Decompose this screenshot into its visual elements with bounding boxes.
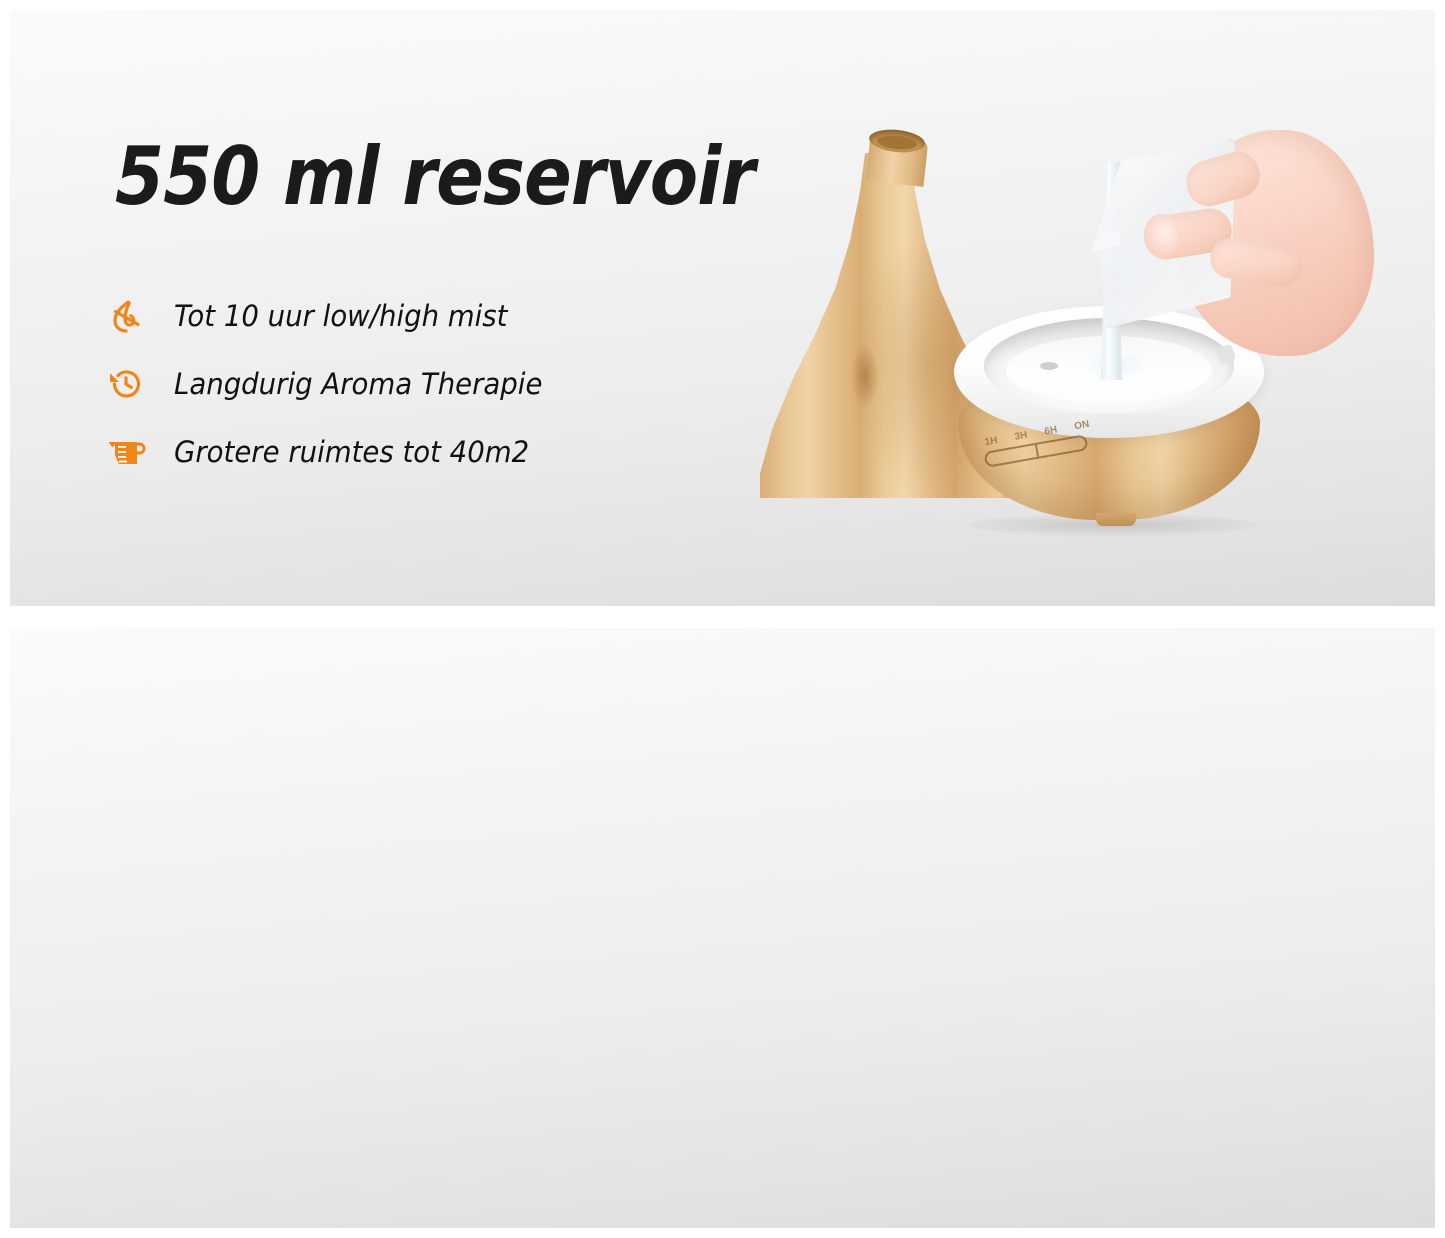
timer-mark: 6H [1044, 425, 1059, 438]
feature-panel-reservoir: 550 ml reservoir Tot 10 uur low/high mis… [10, 10, 1435, 606]
wood-knot [852, 345, 878, 407]
feature-item-room-size: Grotere ruimtes tot 40m2 [106, 418, 562, 486]
clock-history-icon [106, 361, 158, 407]
timer-mark: 3H [1014, 430, 1029, 443]
feature-item-long-lasting: Langdurig Aroma Therapie [106, 350, 562, 418]
timer-mark: 1H [984, 435, 999, 448]
feature-label: Grotere ruimtes tot 40m2 [174, 435, 529, 469]
feature-label: Tot 10 uur low/high mist [174, 299, 507, 333]
product-feature-sheet: 550 ml reservoir Tot 10 uur low/high mis… [0, 0, 1445, 1238]
feature-list-reservoir: Tot 10 uur low/high mist Langdurig Aroma… [106, 282, 562, 486]
page-title: 550 ml reservoir [115, 130, 754, 223]
leaf-drop-icon [106, 293, 158, 339]
feature-label: Langdurig Aroma Therapie [174, 367, 542, 401]
feature-item-mist-duration: Tot 10 uur low/high mist [106, 282, 562, 350]
thumb-tip [1144, 214, 1178, 256]
measuring-jug-icon [106, 429, 158, 475]
diffuser-foot [1096, 513, 1136, 526]
feature-panel-autostop: Auto-stop Automatische uitschakeling [10, 628, 1435, 1228]
mist-nozzle-icon [1040, 362, 1058, 370]
product-image-diffuser-open: 1H 3H 6H ON [740, 130, 1370, 580]
